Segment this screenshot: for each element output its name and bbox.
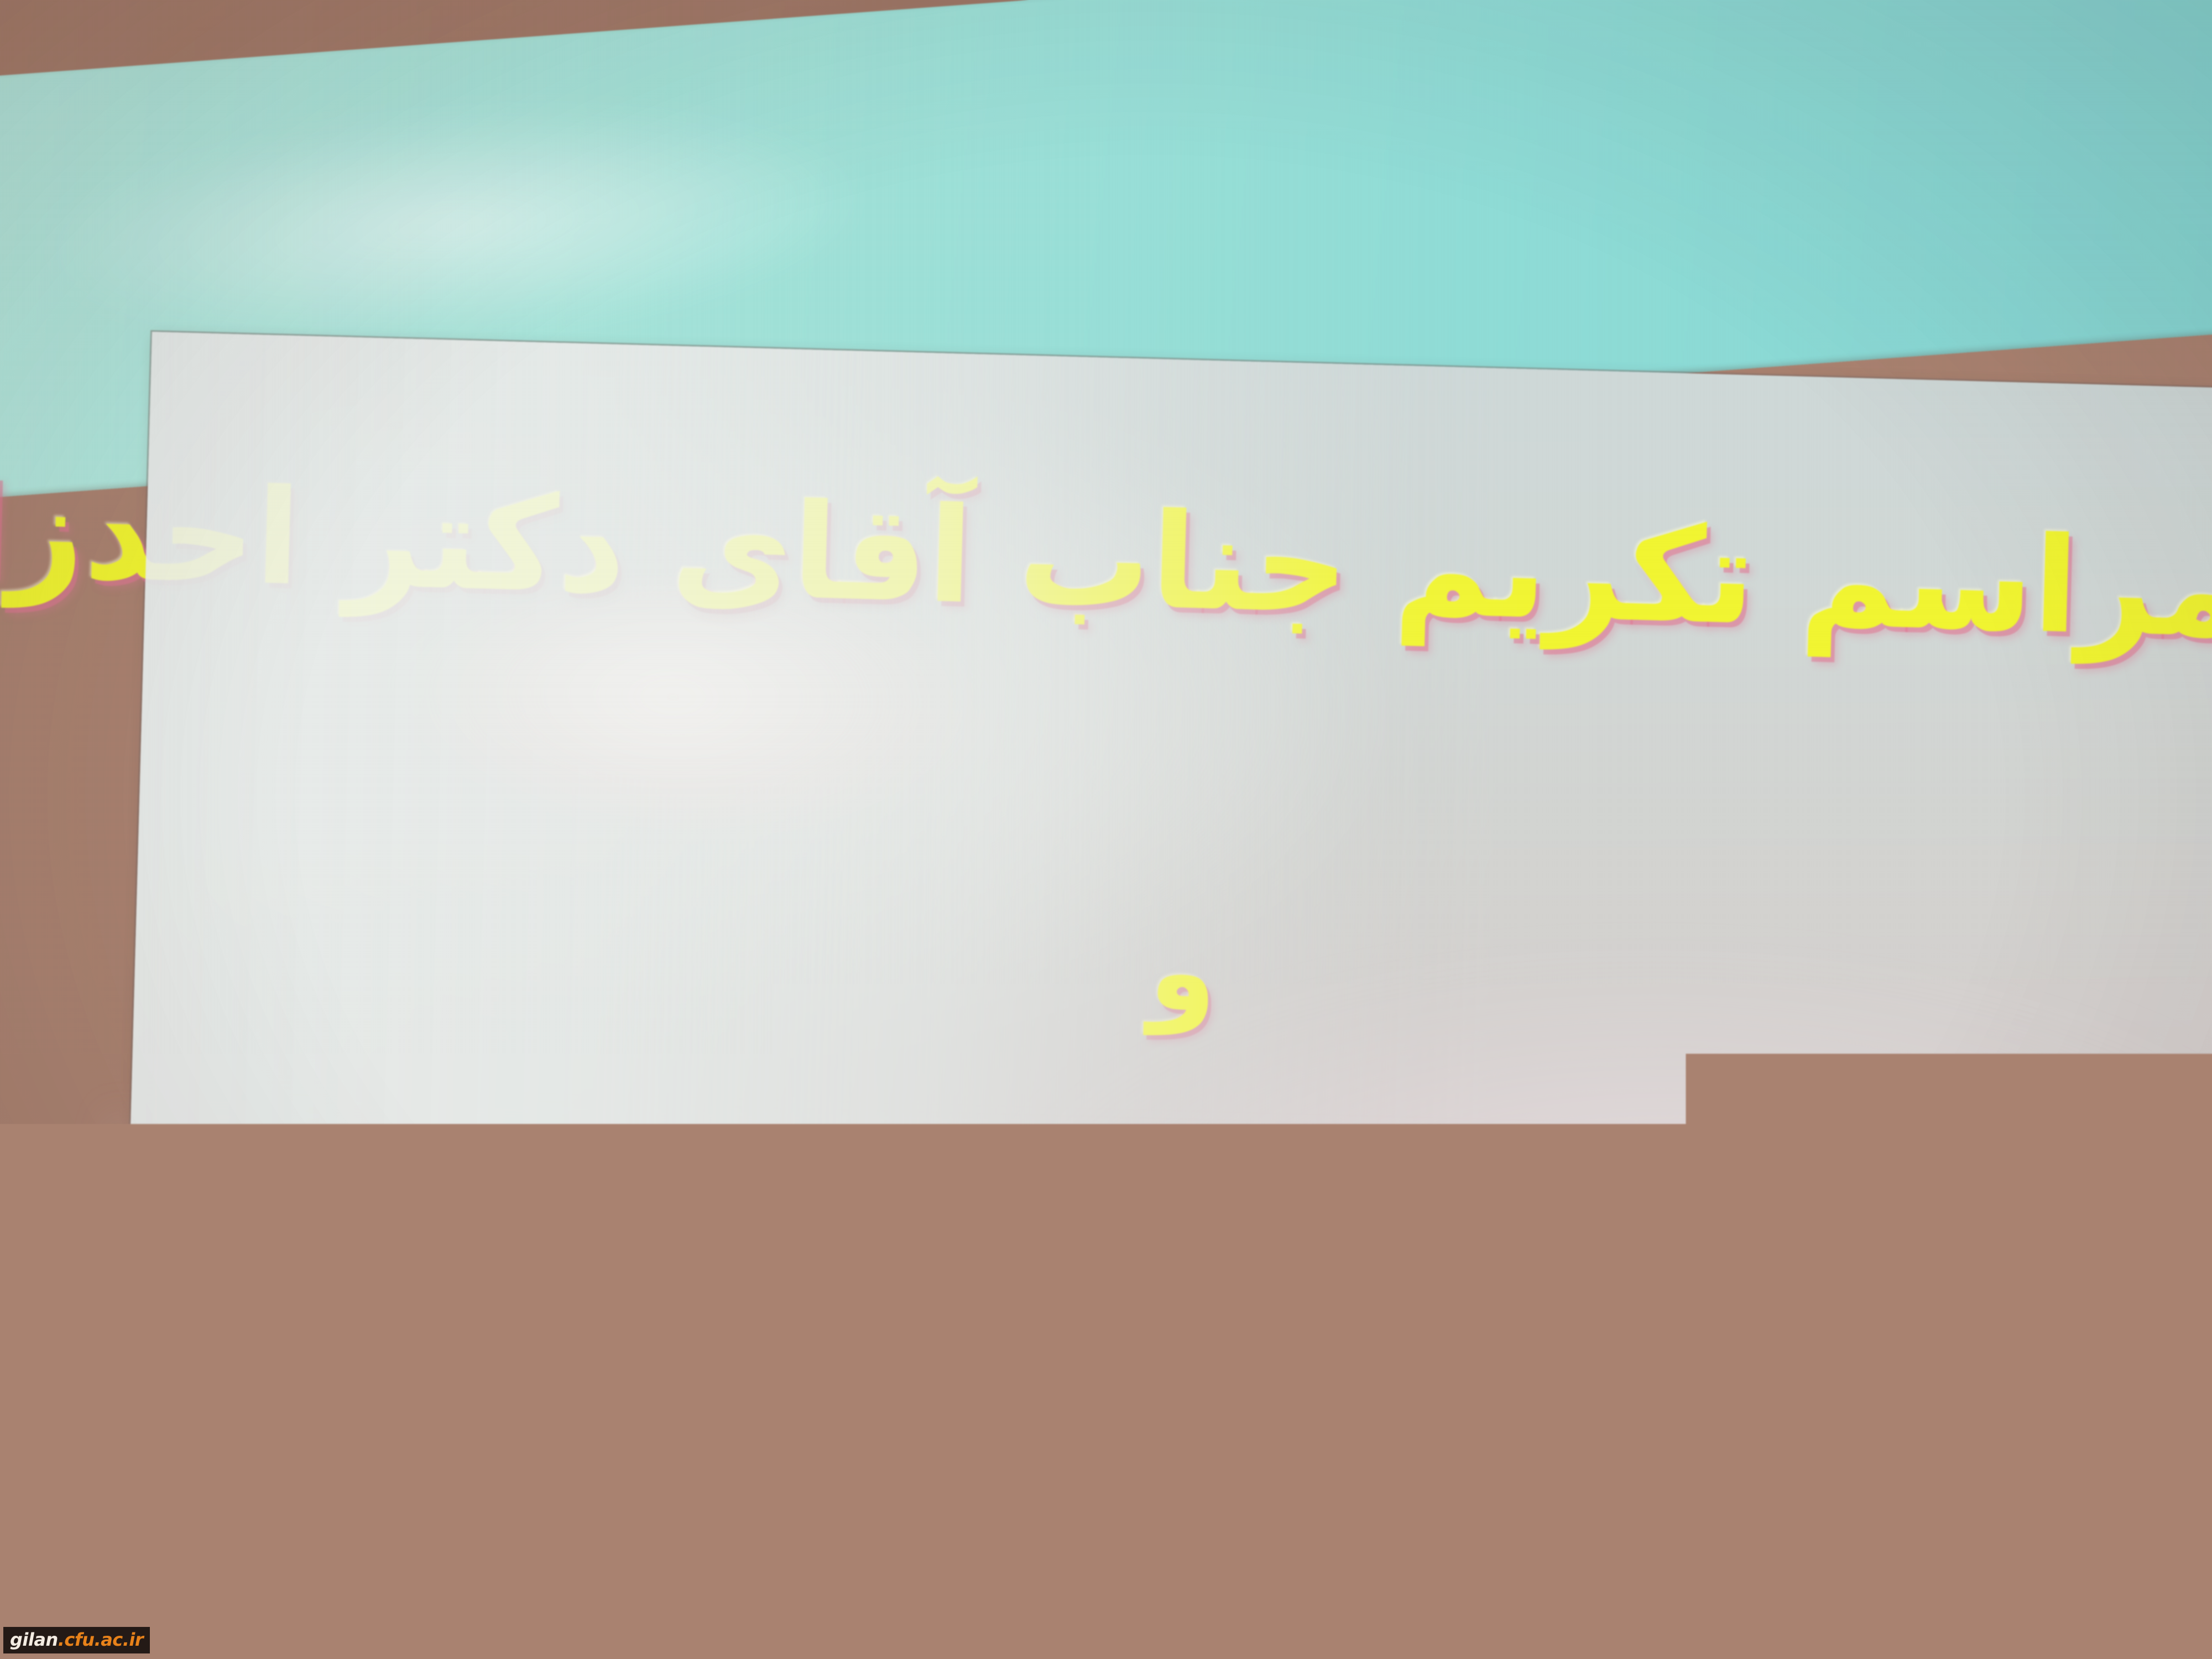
watermark-site-name: gilan [10,1629,58,1650]
cyan-band-light-sheen [32,79,877,372]
slide-title-line-introduction: معارفه جناب آقای دکتر صفری [126,1186,2212,1366]
photo-canvas: مراسم تکریم جناب آقای دکتر احدزاده و معا… [0,0,2212,1659]
plant-leaves-icon [138,1515,636,1659]
slide-conjunction-line: و [134,890,2212,1055]
slide-text-block: مراسم تکریم جناب آقای دکتر احدزاده و معا… [120,332,2212,1566]
slide-title-line-honoring: مراسم تکریم جناب آقای دکتر احدزاده [145,469,2212,657]
watermark-site-domain: .cfu.ac.ir [58,1629,143,1650]
projected-slide: مراسم تکریم جناب آقای دکتر احدزاده و معا… [120,332,2212,1566]
foreground-plant [138,1515,636,1659]
site-watermark: gilan.cfu.ac.ir [3,1627,150,1653]
